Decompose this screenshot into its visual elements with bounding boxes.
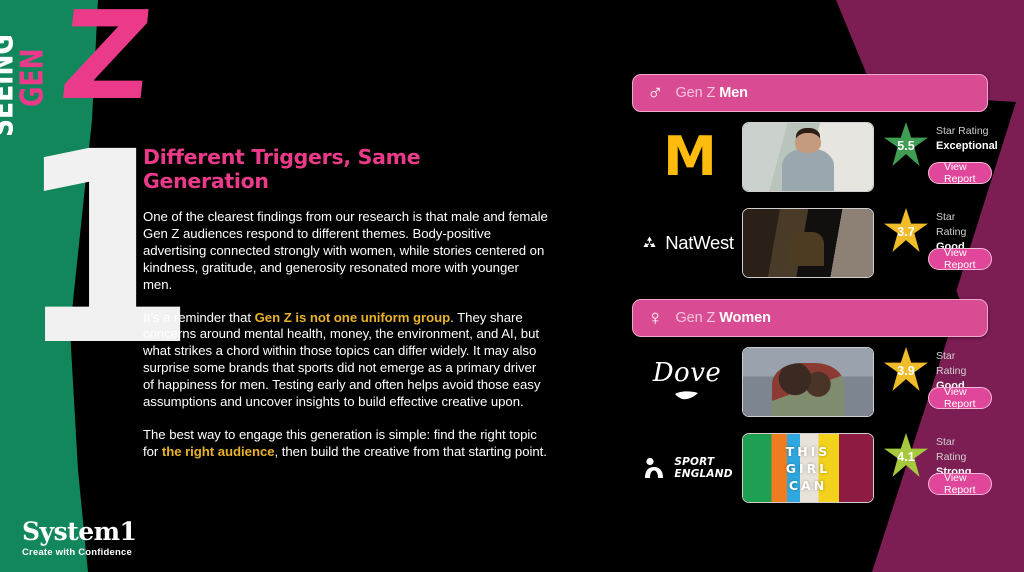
- result-row-dove: Dove 3.9 Star Rating Good View Report: [632, 341, 988, 423]
- rating-label: Star Rating: [936, 124, 998, 139]
- thumbnail-caption-line-1: THIS: [786, 444, 831, 459]
- segment-prefix: Gen Z: [676, 85, 720, 101]
- rating-block-mcdonalds: 5.5 Star Rating Exceptional View Report: [874, 116, 988, 198]
- rating-label: Star Rating: [936, 435, 988, 465]
- result-row-sport-england: SPORTENGLAND THIS GIRL CAN 4.1 Star Rati…: [632, 427, 988, 509]
- segment-name: Men: [719, 85, 748, 101]
- system1-logo: System1 Create with Confidence: [22, 519, 136, 558]
- view-report-button[interactable]: View Report: [928, 162, 992, 184]
- segment-header-women: ♀ Gen Z Women: [632, 299, 988, 337]
- body-paragraph-3: The best way to engage this generation i…: [143, 427, 548, 461]
- dove-wordmark: Dove: [653, 358, 722, 388]
- body-paragraph-1: One of the clearest findings from our re…: [143, 209, 548, 294]
- star-value: 3.7: [884, 208, 928, 252]
- rating-labels: Star Rating Exceptional: [936, 124, 998, 153]
- rating-block-dove: 3.9 Star Rating Good View Report: [874, 341, 988, 423]
- system1-wordmark: System1: [22, 519, 136, 545]
- sport-england-icon: [641, 455, 667, 481]
- rating-verdict: Exceptional: [936, 139, 998, 153]
- brand-logo-dove: Dove: [632, 358, 742, 406]
- rating-block-natwest: 3.7 Star Rating Good View Report: [874, 202, 988, 284]
- thumbnail-caption-line-3: CAN: [789, 478, 827, 493]
- logo-letter-z: Z: [57, 6, 152, 106]
- ad-thumbnail-natwest[interactable]: [742, 208, 874, 278]
- segment-title-women: Gen Z Women: [676, 310, 771, 326]
- brand-logo-mcdonalds: M: [632, 138, 742, 176]
- star-value: 3.9: [884, 347, 928, 391]
- ad-thumbnail-sport-england[interactable]: THIS GIRL CAN: [742, 433, 874, 503]
- dove-bird-icon: [674, 390, 700, 401]
- star-value: 5.5: [884, 122, 928, 166]
- thumbnail-caption: THIS GIRL CAN: [743, 434, 873, 502]
- star-rating-badge: 3.9: [884, 347, 928, 391]
- segment-name: Women: [719, 310, 771, 326]
- female-gender-icon: ♀: [647, 307, 664, 329]
- brand-logo-sport-england: SPORTENGLAND: [632, 455, 742, 481]
- star-rating-badge: 4.1: [884, 433, 928, 477]
- ad-thumbnail-mcdonalds[interactable]: [742, 122, 874, 192]
- rating-block-sport-england: 4.1 Star Rating Strong View Report: [874, 427, 988, 509]
- rating-label: Star Rating: [936, 210, 988, 240]
- page-title: Different Triggers, Same Generation: [143, 145, 548, 193]
- result-row-mcdonalds: M 5.5 Star Rating Exceptional View Repor…: [632, 116, 988, 198]
- segment-prefix: Gen Z: [676, 310, 720, 326]
- natwest-wordmark: NatWest: [665, 232, 734, 254]
- paragraph-2-pre: It’s a reminder that: [143, 310, 255, 325]
- rating-label: Star Rating: [936, 349, 988, 379]
- paragraph-3-highlight: the right audience: [162, 444, 275, 459]
- mcdonalds-arches-icon: M: [663, 138, 711, 176]
- result-row-natwest: NatWest 3.7 Star Rating Good View Report: [632, 202, 988, 284]
- brand-logo-natwest: NatWest: [632, 232, 742, 254]
- copy-column: Different Triggers, Same Generation One …: [143, 145, 548, 477]
- segment-header-men: ♂ Gen Z Men: [632, 74, 988, 112]
- view-report-button[interactable]: View Report: [928, 387, 992, 409]
- paragraph-3-post: , then build the creative from that star…: [275, 444, 547, 459]
- star-rating-badge: 3.7: [884, 208, 928, 252]
- system1-tagline: Create with Confidence: [22, 547, 136, 558]
- thumbnail-caption-line-2: GIRL: [786, 461, 831, 476]
- sport-england-wordmark: SPORTENGLAND: [674, 456, 732, 480]
- natwest-cycle-icon: [640, 234, 659, 253]
- segment-title-men: Gen Z Men: [676, 85, 748, 101]
- view-report-button[interactable]: View Report: [928, 248, 992, 270]
- body-paragraph-2: It’s a reminder that Gen Z is not one un…: [143, 310, 548, 411]
- male-gender-icon: ♂: [647, 82, 664, 104]
- star-rating-badge: 5.5: [884, 122, 928, 166]
- star-value: 4.1: [884, 433, 928, 477]
- ad-thumbnail-dove[interactable]: [742, 347, 874, 417]
- view-report-button[interactable]: View Report: [928, 473, 992, 495]
- paragraph-2-highlight: Gen Z is not one uniform group: [255, 310, 451, 325]
- results-panel: ♂ Gen Z Men M 5.5 Star Rating Exceptiona…: [632, 74, 988, 509]
